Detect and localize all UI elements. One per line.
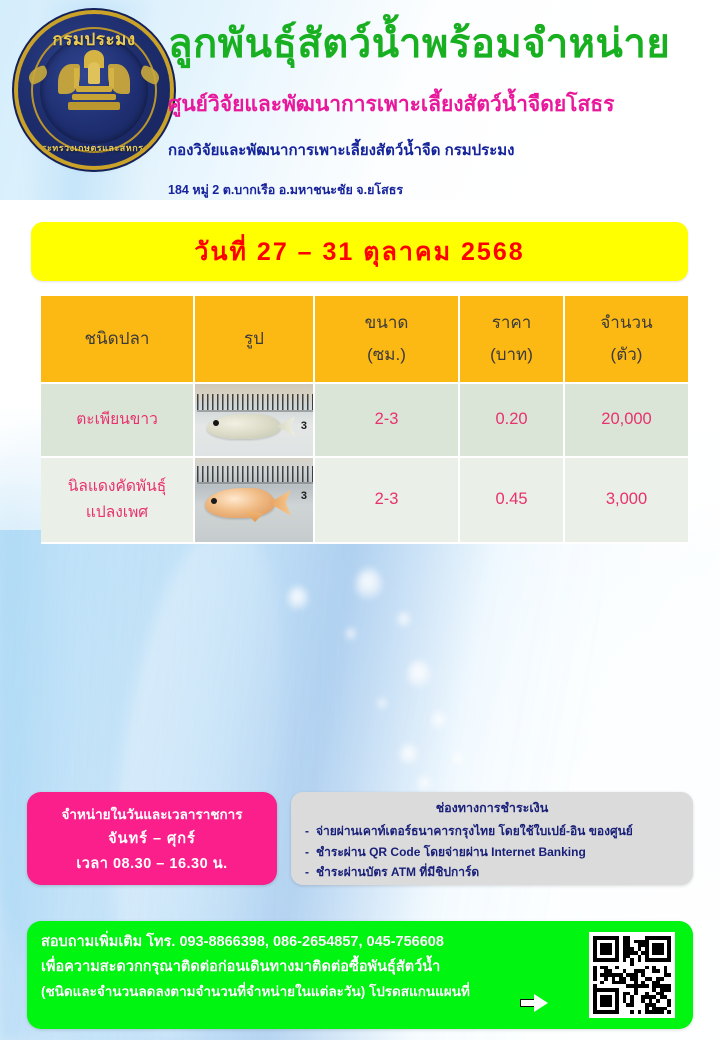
column-header-size-unit: (ซม.) — [365, 339, 409, 371]
fish-photo-red-tilapia: 3 — [195, 458, 313, 542]
contact-box: สอบถามเพิ่มเติม โทร. 093-8866398, 086-26… — [27, 921, 693, 1029]
cell-price: 0.45 — [460, 458, 565, 544]
poster-canvas: กรมประมง กระทรวงเกษตรและสหกรณ์ ลูกพันธุ์… — [0, 0, 720, 1040]
page-title: ลูกพันธุ์สัตว์น้ำพร้อมจำหน่าย — [168, 22, 708, 67]
list-item: -จ่ายผ่านเคาท์เตอร์ธนาคารกรุงไทย โดยใช้ใ… — [305, 821, 683, 842]
poster-header: กรมประมง กระทรวงเกษตรและสหกรณ์ ลูกพันธุ์… — [0, 0, 720, 210]
garuda-emblem-icon — [64, 48, 124, 122]
cell-species-line2: แปลงเพศ — [68, 500, 166, 526]
address-line: 184 หมู่ 2 ต.บากเรือ อ.มหาชนะชัย จ.ยโสธร — [168, 180, 708, 200]
cell-species: นิลแดงคัดพันธุ์ แปลงเพศ — [41, 458, 195, 544]
table-row: ตะเพียนขาว 3 2-3 0.20 20,000 — [41, 384, 688, 458]
seal-top-label: กรมประมง — [18, 26, 170, 53]
center-name-subtitle: ศูนย์วิจัยและพัฒนาการเพาะเลี้ยงสัตว์น้ำจ… — [168, 92, 708, 117]
column-header-quantity-label: จำนวน — [600, 307, 652, 339]
fish-tail — [277, 416, 295, 436]
date-banner: วันที่ 27 – 31 ตุลาคม 2568 — [31, 222, 688, 281]
cell-size: 2-3 — [315, 458, 460, 544]
payment-item-text: ชำระผ่าน QR Code โดยจ่ายผ่าน Internet Ba… — [316, 845, 586, 859]
list-item: -ชำระผ่าน QR Code โดยจ่ายผ่าน Internet B… — [305, 842, 683, 863]
department-of-fisheries-logo: กรมประมง กระทรวงเกษตรและสหกรณ์ — [18, 14, 170, 166]
service-hours-box: จำหน่ายในวันและเวลาราชการ จันทร์ – ศุกร์… — [27, 792, 277, 885]
bokeh-dot — [398, 612, 410, 628]
ruler-icon — [197, 394, 313, 410]
cell-price: 0.20 — [460, 384, 565, 458]
fish-tail — [269, 490, 291, 516]
bokeh-dot — [432, 712, 446, 730]
date-banner-text: วันที่ 27 – 31 ตุลาคม 2568 — [194, 232, 524, 272]
hours-line-1: จำหน่ายในวันและเวลาราชการ — [61, 803, 242, 825]
bokeh-dot — [400, 744, 418, 766]
ruler-baseline — [197, 410, 313, 412]
hours-line-3: เวลา 08.30 – 16.30 น. — [76, 852, 227, 875]
fingerling-price-table: ชนิดปลา รูป ขนาด (ซม.) ราคา (บาท) จำนวน — [41, 296, 688, 544]
list-item: -ชำระผ่านบัตร ATM ที่มีชิปการ์ด — [305, 862, 683, 883]
cell-species-line1: นิลแดงคัดพันธุ์ — [68, 474, 166, 500]
cell-quantity: 3,000 — [565, 458, 688, 544]
qr-code-map[interactable] — [589, 932, 675, 1018]
payment-methods-list: -จ่ายผ่านเคาท์เตอร์ธนาคารกรุงไทย โดยใช้ใ… — [301, 821, 683, 883]
bokeh-dot — [452, 752, 463, 766]
payment-box-title: ช่องทางการชำระเงิน — [301, 798, 683, 818]
contact-phone-line: สอบถามเพิ่มเติม โทร. 093-8866398, 086-26… — [41, 930, 561, 955]
column-header-price: ราคา (บาท) — [460, 296, 565, 384]
scale-mark: 3 — [301, 487, 307, 505]
table-header-row: ชนิดปลา รูป ขนาด (ซม.) ราคา (บาท) จำนวน — [41, 296, 688, 384]
fish-eye — [213, 420, 219, 426]
cell-image: 3 — [195, 458, 315, 544]
ruler-baseline — [197, 482, 313, 484]
bokeh-dot — [346, 628, 356, 641]
bullet-dash: - — [305, 842, 316, 863]
seal-icon: กรมประมง กระทรวงเกษตรและสหกรณ์ — [18, 14, 170, 166]
ruler-icon — [197, 466, 313, 482]
contact-scan-line: (ชนิดและจำนวนลดลงตามจำนวนที่จำหน่ายในแต่… — [41, 980, 561, 1003]
cell-quantity: 20,000 — [565, 384, 688, 458]
scale-mark: 3 — [301, 417, 307, 435]
contact-notice-line: เพื่อความสะดวกกรุณาติดต่อก่อนเดินทางมาติ… — [41, 955, 561, 980]
bokeh-dot — [408, 660, 430, 690]
column-header-size: ขนาด (ซม.) — [315, 296, 460, 384]
bokeh-dot — [418, 776, 431, 792]
fish-body — [207, 414, 281, 439]
payment-item-text: จ่ายผ่านเคาท์เตอร์ธนาคารกรุงไทย โดยใช้ใบ… — [316, 824, 633, 838]
column-header-image: รูป — [195, 296, 315, 384]
fish-photo-silver-barb: 3 — [195, 384, 313, 456]
hours-line-2: จันทร์ – ศุกร์ — [108, 827, 196, 850]
qr-code-pattern — [593, 936, 671, 1014]
cell-image: 3 — [195, 384, 315, 458]
column-header-species: ชนิดปลา — [41, 296, 195, 384]
bullet-dash: - — [305, 821, 316, 842]
column-header-price-unit: (บาท) — [490, 339, 533, 371]
column-header-quantity: จำนวน (ตัว) — [565, 296, 688, 384]
bokeh-dot — [356, 568, 382, 602]
column-header-size-label: ขนาด — [365, 307, 409, 339]
column-header-quantity-unit: (ตัว) — [600, 339, 652, 371]
right-arrow-icon — [520, 994, 548, 1012]
cell-species: ตะเพียนขาว — [41, 384, 195, 458]
bokeh-dot — [288, 586, 308, 612]
column-header-price-label: ราคา — [490, 307, 533, 339]
table-row: นิลแดงคัดพันธุ์ แปลงเพศ 3 2-3 — [41, 458, 688, 544]
division-line: กองวิจัยและพัฒนาการเพาะเลี้ยงสัตว์น้ำจืด… — [168, 138, 708, 162]
payment-methods-box: ช่องทางการชำระเงิน -จ่ายผ่านเคาท์เตอร์ธน… — [291, 792, 693, 885]
payment-item-text: ชำระผ่านบัตร ATM ที่มีชิปการ์ด — [316, 865, 479, 879]
bullet-dash: - — [305, 862, 316, 883]
seal-bottom-label: กระทรวงเกษตรและสหกรณ์ — [18, 141, 170, 155]
cell-size: 2-3 — [315, 384, 460, 458]
contact-text-block: สอบถามเพิ่มเติม โทร. 093-8866398, 086-26… — [41, 930, 561, 1003]
bokeh-dot — [378, 698, 387, 710]
